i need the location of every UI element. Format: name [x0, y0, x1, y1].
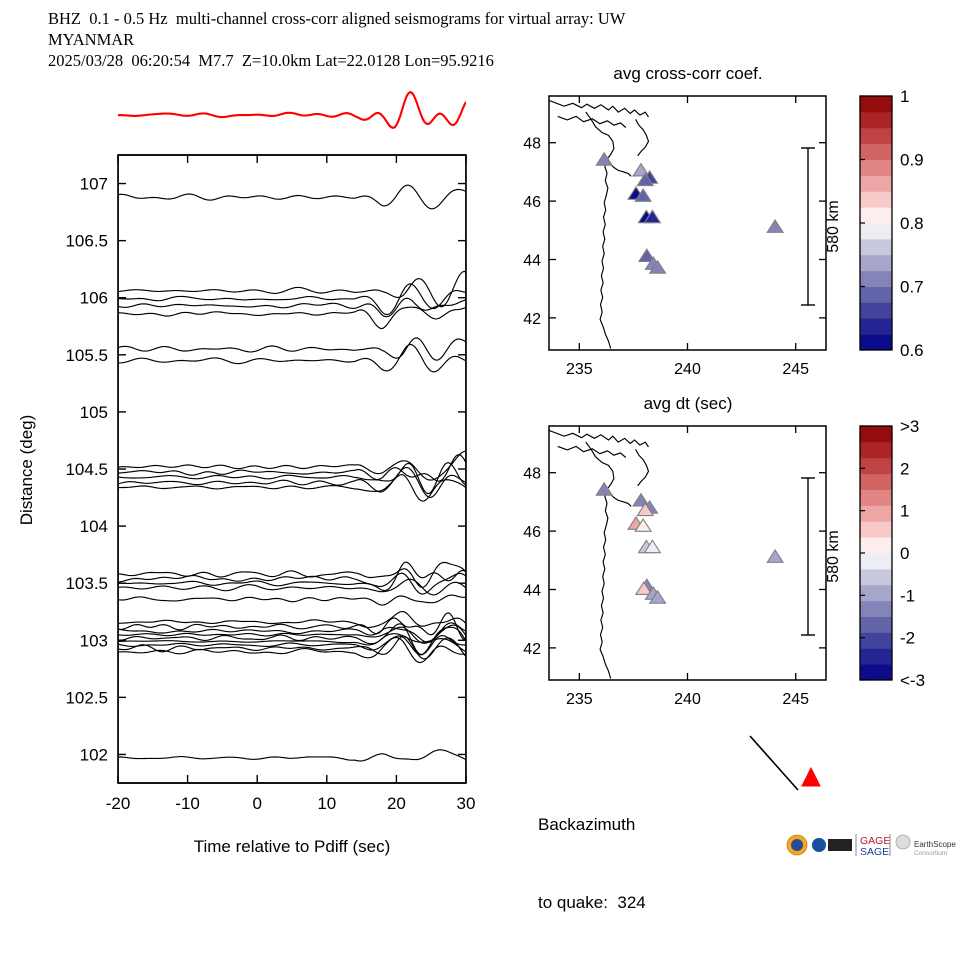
map-x-tick-label: 245 [782, 691, 809, 708]
nsf-logo-inner [791, 839, 803, 851]
seismogram-trace [118, 573, 466, 594]
map-panel-cross-corr: avg cross-corr coef. 2352402454244464858… [500, 60, 971, 390]
station-triangle-marker[interactable] [767, 220, 783, 232]
map-y-tick-label: 44 [523, 582, 541, 599]
sage-logo-text: SAGE [860, 846, 889, 858]
seismogram-trace [118, 185, 466, 209]
colorbar-band [860, 664, 892, 680]
colorbar-tick-label: >3 [900, 417, 919, 436]
colorbar-band [860, 223, 892, 239]
map-x-tick-label: 235 [566, 361, 593, 378]
scale-bar-label: 580 km [825, 530, 842, 582]
unavco-logo-icon [812, 838, 826, 852]
scale-bar [801, 148, 815, 305]
colorbar-band [860, 318, 892, 334]
coastline-path [549, 100, 649, 117]
map-x-tick-label: 240 [674, 361, 701, 378]
coastline-path [558, 446, 626, 457]
map-panel-avg-dt: avg dt (sec) 23524024542444648580 km<-3-… [500, 390, 971, 720]
colorbar-band [860, 458, 892, 474]
colorbar-band [860, 505, 892, 521]
y-tick-label: 102 [80, 745, 108, 764]
map-x-tick-label: 245 [782, 361, 809, 378]
y-tick-label: 104 [80, 517, 108, 536]
map-cross-corr-body: 23524024542444648580 km0.60.70.80.91 [523, 87, 923, 378]
station-markers [596, 483, 783, 603]
colorbar-band [860, 442, 892, 458]
map-title-avg-dt: avg dt (sec) [644, 394, 733, 413]
clip-right [466, 70, 500, 866]
record-section-y-axis: 102102.5103103.5104104.5105105.5106106.5… [65, 175, 466, 765]
scale-bar-label: 580 km [825, 200, 842, 252]
colorbar-band [860, 112, 892, 128]
earthscope-globe-icon [896, 835, 910, 849]
backazimuth-arrow-group [740, 728, 860, 828]
map-x-tick-label: 240 [674, 691, 701, 708]
colorbar-band [860, 617, 892, 633]
y-tick-label: 106 [80, 289, 108, 308]
colorbar-band [860, 553, 892, 569]
x-tick-label: 20 [387, 794, 406, 813]
scale-bar [801, 478, 815, 635]
colorbar-band [860, 302, 892, 318]
x-tick-label: -20 [106, 794, 131, 813]
colorbar-tick-label: -1 [900, 586, 915, 605]
station-triangle-marker[interactable] [596, 483, 612, 495]
coastline [549, 430, 649, 678]
colorbar-band [860, 287, 892, 303]
y-tick-label: 106.5 [65, 232, 108, 251]
seismogram-trace [118, 595, 466, 605]
colorbar-band [860, 191, 892, 207]
y-axis-title: Distance (deg) [17, 415, 36, 526]
colorbar-band [860, 474, 892, 490]
y-tick-label: 103.5 [65, 574, 108, 593]
seismogram-trace [118, 750, 466, 761]
seismogram-trace [118, 338, 466, 360]
coastline [549, 100, 649, 348]
y-tick-label: 102.5 [65, 688, 108, 707]
colorbar: <-3-2-1012>3 [860, 417, 925, 690]
map-y-tick-label: 48 [523, 136, 541, 153]
title-line-1: BHZ 0.1 - 0.5 Hz multi-channel cross-cor… [48, 8, 848, 29]
quake-direction-triangle-icon [802, 768, 820, 786]
coastline-path [558, 116, 626, 127]
title-line-2: MYANMAR [48, 29, 848, 50]
backazimuth-value: to quake: 324 [538, 890, 646, 916]
colorbar-band [860, 160, 892, 176]
coastline-path [636, 119, 649, 155]
x-tick-label: -10 [175, 794, 200, 813]
map-y-tick-label: 48 [523, 466, 541, 483]
station-triangle-marker[interactable] [596, 153, 612, 165]
colorbar-band [860, 569, 892, 585]
x-tick-label: 0 [252, 794, 261, 813]
x-tick-label: 10 [317, 794, 336, 813]
seismogram-trace [118, 468, 466, 498]
sponsor-logos: GAGE SAGE EarthScope Consortium [786, 832, 966, 858]
seismogram-trace [118, 271, 466, 306]
colorbar-band [860, 648, 892, 664]
colorbar-band [860, 426, 892, 442]
colorbar-tick-label: 0.8 [900, 214, 924, 233]
colorbar-tick-label: 0.9 [900, 151, 924, 170]
colorbar-band [860, 271, 892, 287]
y-tick-label: 105.5 [65, 346, 108, 365]
map-avg-dt-body: 23524024542444648580 km<-3-2-1012>3 [523, 417, 925, 708]
backazimuth-label: Backazimuth [538, 812, 646, 838]
earthscope-logo-text: EarthScope [914, 840, 956, 849]
coastline-path [600, 159, 611, 349]
y-tick-label: 107 [80, 175, 108, 194]
colorbar-band [860, 334, 892, 350]
seismogram-trace [118, 475, 466, 502]
seismogram-traces [118, 185, 466, 761]
colorbar-tick-label: -2 [900, 629, 915, 648]
colorbar-band [860, 521, 892, 537]
colorbar-band [860, 239, 892, 255]
x-tick-label: 30 [457, 794, 476, 813]
colorbar-tick-label: <-3 [900, 671, 925, 690]
map-x-tick-label: 235 [566, 691, 593, 708]
iris-logo-icon [828, 839, 852, 851]
map-y-tick-label: 44 [523, 252, 541, 269]
coastline-path [549, 430, 649, 447]
colorbar-tick-label: 0.7 [900, 278, 924, 297]
y-tick-label: 103 [80, 631, 108, 650]
backazimuth-arrow-icon [750, 736, 798, 790]
colorbar-tick-label: 1 [900, 502, 909, 521]
record-section-panel: 102102.5103103.5104104.5105105.5106106.5… [0, 70, 500, 866]
colorbar-band [860, 175, 892, 191]
colorbar-band [860, 128, 892, 144]
colorbar-tick-label: 0 [900, 544, 909, 563]
coastline-path [636, 449, 649, 486]
colorbar-band [860, 585, 892, 601]
seismogram-trace [118, 345, 466, 372]
reference-stack-trace [118, 92, 466, 128]
station-triangle-marker[interactable] [767, 550, 783, 562]
colorbar-band [860, 537, 892, 553]
colorbar-band [860, 207, 892, 223]
colorbar: 0.60.70.80.91 [860, 87, 924, 360]
seismogram-trace [118, 636, 466, 659]
colorbar-band [860, 490, 892, 506]
map-y-tick-label: 46 [523, 194, 541, 211]
colorbar-tick-label: 1 [900, 87, 909, 106]
station-triangle-marker[interactable] [633, 494, 649, 506]
backazimuth-annotation: Backazimuth to quake: 324 [538, 760, 646, 968]
map-y-tick-label: 46 [523, 524, 541, 541]
y-tick-label: 104.5 [65, 460, 108, 479]
colorbar-tick-label: 2 [900, 459, 909, 478]
x-axis-title: Time relative to Pdiff (sec) [194, 837, 391, 856]
earthscope-logo-subtext: Consortium [914, 850, 947, 857]
station-triangle-marker[interactable] [633, 164, 649, 176]
seismogram-trace [118, 623, 466, 643]
seismogram-trace [118, 612, 466, 628]
colorbar-band [860, 144, 892, 160]
map-y-tick-label: 42 [523, 311, 541, 328]
station-markers [596, 153, 783, 273]
colorbar-band [860, 632, 892, 648]
colorbar-band [860, 96, 892, 112]
seismogram-trace [118, 307, 466, 328]
y-tick-label: 105 [80, 403, 108, 422]
map-title-cross-corr: avg cross-corr coef. [613, 64, 762, 83]
coastline-path [600, 489, 611, 679]
figure-canvas: BHZ 0.1 - 0.5 Hz multi-channel cross-cor… [0, 0, 971, 866]
map-y-tick-label: 42 [523, 641, 541, 658]
colorbar-band [860, 601, 892, 617]
map-axes-box [549, 426, 826, 680]
colorbar-band [860, 255, 892, 271]
colorbar-tick-label: 0.6 [900, 341, 924, 360]
map-axes-box [549, 96, 826, 350]
